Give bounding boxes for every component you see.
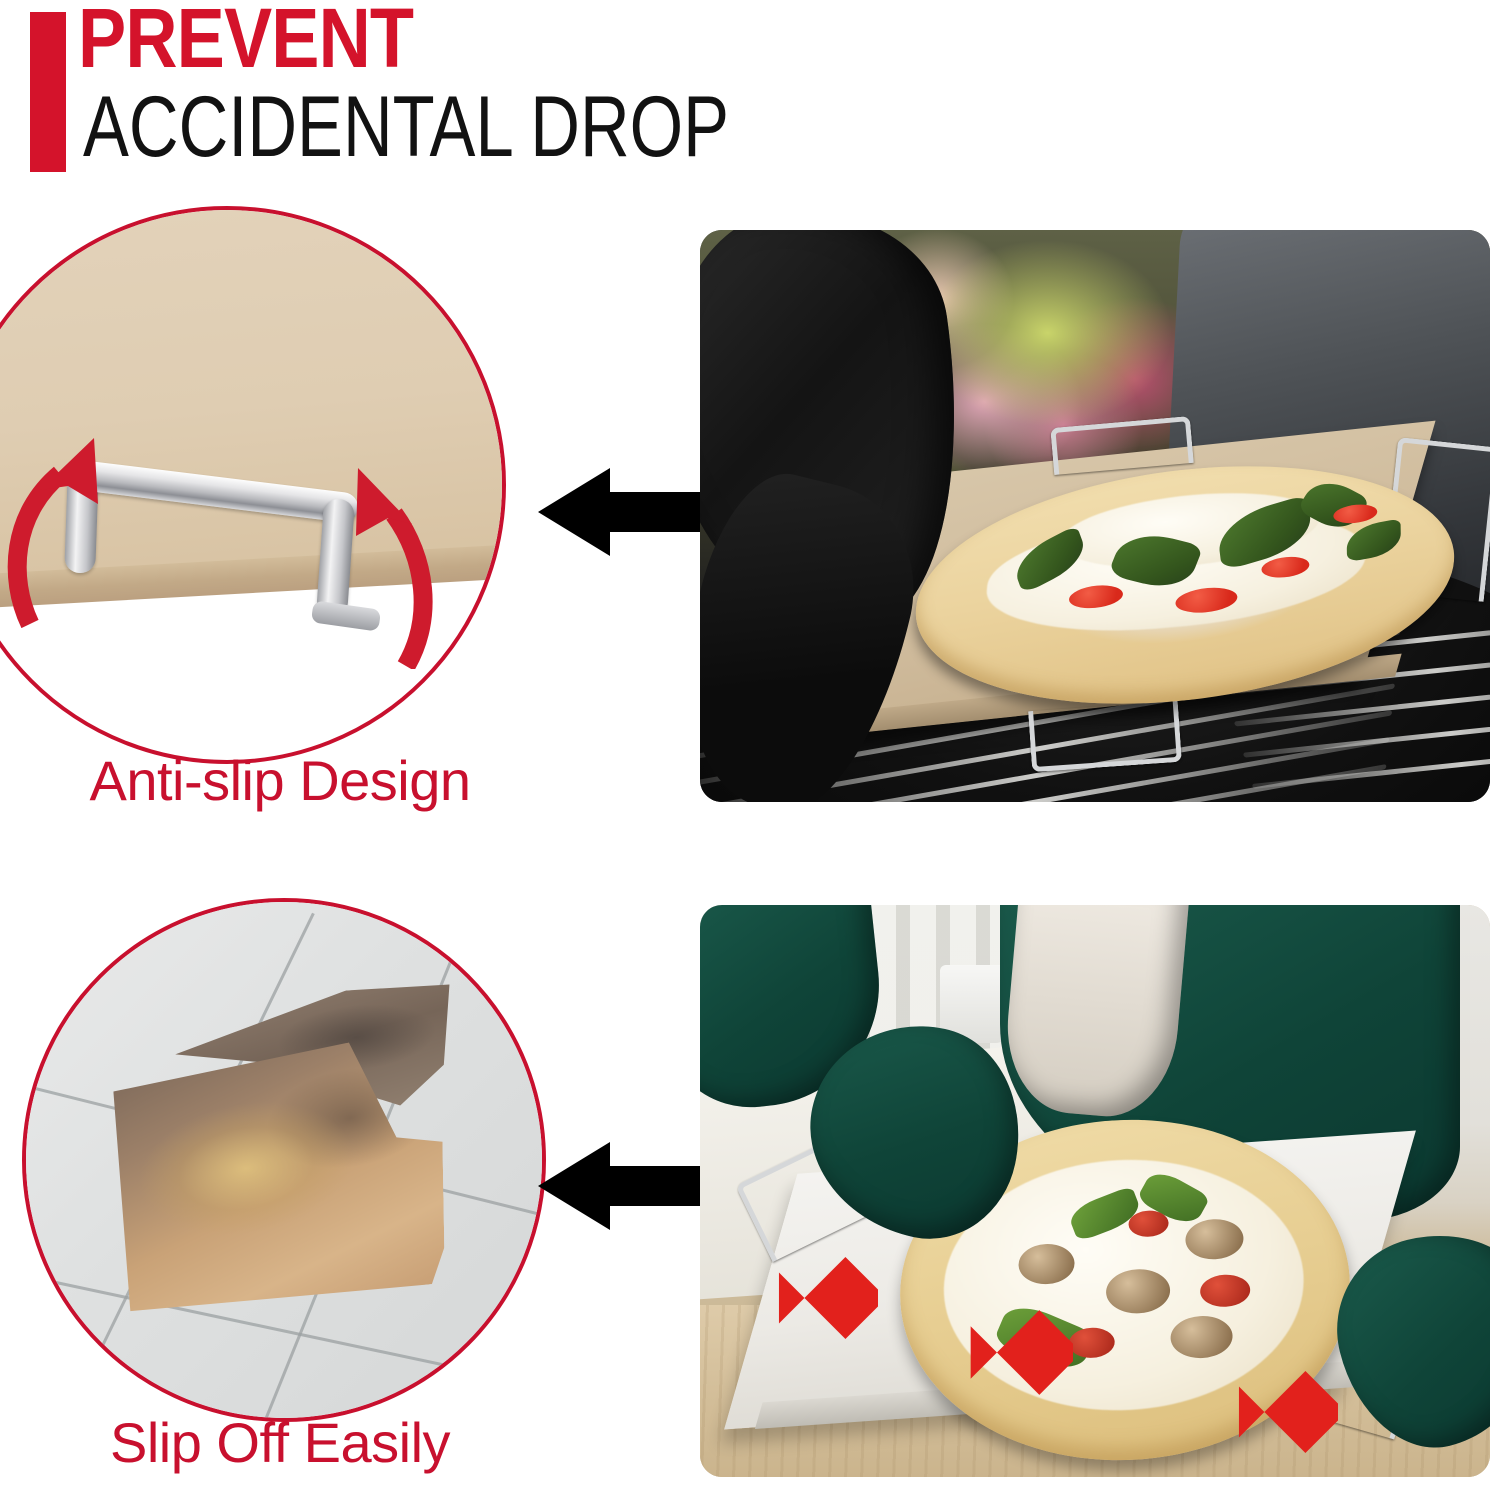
photo-grill-pizza-stone (700, 230, 1490, 802)
stone-handle-front (1028, 701, 1182, 772)
detail-circle-slip-off (22, 898, 546, 1422)
header: PREVENT ACCIDENTAL DROP (0, 0, 1500, 190)
detail-circle-anti-slip (0, 206, 506, 764)
slide-arrow-2-icon (918, 1275, 1073, 1430)
photo-table-pizza-stone (700, 905, 1490, 1477)
curved-arrow-left-icon (0, 428, 134, 628)
page-title-secondary: ACCIDENTAL DROP (83, 84, 729, 170)
caption-anti-slip: Anti-slip Design (0, 748, 560, 813)
page-title-primary: PREVENT (78, 0, 413, 80)
slide-arrow-3-icon (1188, 1337, 1338, 1477)
slide-arrow-1-icon (728, 1223, 878, 1373)
connector-arrow-left-icon-2 (538, 1140, 713, 1232)
caption-slip-off: Slip Off Easily (0, 1410, 560, 1475)
header-accent-bar (30, 12, 66, 172)
connector-arrow-left-icon (538, 466, 713, 558)
curved-arrow-right-icon (334, 454, 484, 669)
